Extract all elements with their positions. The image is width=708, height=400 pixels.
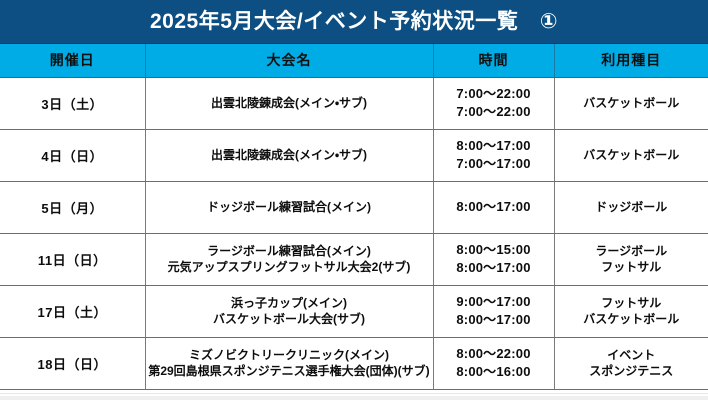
cell-event: ミズノビクトリークリニック(メイン)第29回島根県スポンジテニス選手権大会(団体… [145, 337, 433, 389]
cell-time-line: 8:00〜22:00 [436, 345, 552, 363]
table-row: 4日（日）出雲北陵錬成会(メイン・サブ)8:00〜17:007:00〜17:00… [0, 129, 708, 181]
table-row: 18日（日）ミズノビクトリークリニック(メイン)第29回島根県スポンジテニス選手… [0, 337, 708, 389]
cell-event-line: 第29回島根県スポンジテニス選手権大会(団体)(サブ) [148, 363, 431, 379]
cell-category-line: フットサル [557, 259, 707, 275]
cell-time-line: 9:00〜17:00 [436, 293, 552, 311]
cell-time-line: 8:00〜17:00 [436, 198, 552, 216]
cell-category: バスケットボール [554, 129, 708, 181]
cell-event-line: 出雲北陵錬成会(メイン・サブ) [148, 147, 431, 163]
cell-event-line: ドッジボール練習試合(メイン) [148, 199, 431, 215]
table-row: 5日（月）ドッジボール練習試合(メイン)8:00〜17:00ドッジボール [0, 181, 708, 233]
cell-event: ドッジボール練習試合(メイン) [145, 181, 433, 233]
cell-category-line: バスケットボール [557, 147, 707, 163]
header-row: 開催日 大会名 時間 利用種目 [0, 44, 708, 77]
cell-event-line: 浜っ子カップ(メイン) [148, 295, 431, 311]
cell-category: バスケットボール [554, 77, 708, 129]
schedule-sheet: 2025年5月大会/イベント予約状況一覧 ① 開催日 大会名 時間 利用種目 3… [0, 0, 708, 400]
cell-time: 8:00〜15:008:00〜17:00 [433, 233, 554, 285]
cell-event: ラージボール練習試合(メイン)元気アップスプリングフットサル大会2(サブ) [145, 233, 433, 285]
table-row: 11日（日）ラージボール練習試合(メイン)元気アップスプリングフットサル大会2(… [0, 233, 708, 285]
cell-date: 18日（日） [0, 337, 145, 389]
cell-event-line: 元気アップスプリングフットサル大会2(サブ) [148, 259, 431, 275]
cell-event-line: 出雲北陵錬成会(メイン・サブ) [148, 95, 431, 111]
column-header-event: 大会名 [145, 44, 433, 77]
page-title: 2025年5月大会/イベント予約状況一覧 ① [150, 11, 558, 32]
cell-category-line: ラージボール [557, 243, 707, 259]
cell-event: 浜っ子カップ(メイン)バスケットボール大会(サブ) [145, 285, 433, 337]
cell-date: 4日（日） [0, 129, 145, 181]
cell-date: 3日（土） [0, 77, 145, 129]
cell-time-line: 8:00〜15:00 [436, 241, 552, 259]
cell-category-line: バスケットボール [557, 311, 707, 327]
cell-time: 8:00〜17:00 [433, 181, 554, 233]
cell-category-line: スポンジテニス [557, 363, 707, 379]
cell-time-line: 8:00〜17:00 [436, 311, 552, 329]
cell-category-line: バスケットボール [557, 95, 707, 111]
cell-event: 出雲北陵錬成会(メイン・サブ) [145, 77, 433, 129]
cell-category: フットサルバスケットボール [554, 285, 708, 337]
column-header-category: 利用種目 [554, 44, 708, 77]
cell-time: 9:00〜17:008:00〜17:00 [433, 285, 554, 337]
cell-category-line: イベント [557, 347, 707, 363]
cell-event-line: ラージボール練習試合(メイン) [148, 243, 431, 259]
table-row: 3日（土）出雲北陵錬成会(メイン・サブ)7:00〜22:007:00〜22:00… [0, 77, 708, 129]
cell-time-line: 7:00〜22:00 [436, 85, 552, 103]
cell-time: 7:00〜22:007:00〜22:00 [433, 77, 554, 129]
cell-time-line: 8:00〜17:00 [436, 259, 552, 277]
cell-date: 17日（土） [0, 285, 145, 337]
cell-event-line: バスケットボール大会(サブ) [148, 311, 431, 327]
cell-category-line: ドッジボール [557, 199, 707, 215]
cell-time: 8:00〜17:007:00〜17:00 [433, 129, 554, 181]
cell-time: 8:00〜22:008:00〜16:00 [433, 337, 554, 389]
bottom-strip [0, 393, 708, 400]
title-banner: 2025年5月大会/イベント予約状況一覧 ① [0, 0, 708, 44]
bottom-shade [0, 396, 708, 400]
cell-time-line: 7:00〜17:00 [436, 155, 552, 173]
column-header-time: 時間 [433, 44, 554, 77]
table-header: 開催日 大会名 時間 利用種目 [0, 44, 708, 77]
cell-category: ラージボールフットサル [554, 233, 708, 285]
table-row: 17日（土）浜っ子カップ(メイン)バスケットボール大会(サブ)9:00〜17:0… [0, 285, 708, 337]
reservation-table: 開催日 大会名 時間 利用種目 3日（土）出雲北陵錬成会(メイン・サブ)7:00… [0, 44, 708, 390]
cell-event: 出雲北陵錬成会(メイン・サブ) [145, 129, 433, 181]
cell-time-line: 7:00〜22:00 [436, 103, 552, 121]
cell-category: イベントスポンジテニス [554, 337, 708, 389]
cell-time-line: 8:00〜17:00 [436, 137, 552, 155]
cell-date: 5日（月） [0, 181, 145, 233]
table-body: 3日（土）出雲北陵錬成会(メイン・サブ)7:00〜22:007:00〜22:00… [0, 77, 708, 389]
cell-category: ドッジボール [554, 181, 708, 233]
column-header-date: 開催日 [0, 44, 145, 77]
cell-event-line: ミズノビクトリークリニック(メイン) [148, 347, 431, 363]
cell-category-line: フットサル [557, 295, 707, 311]
cell-date: 11日（日） [0, 233, 145, 285]
cell-time-line: 8:00〜16:00 [436, 363, 552, 381]
